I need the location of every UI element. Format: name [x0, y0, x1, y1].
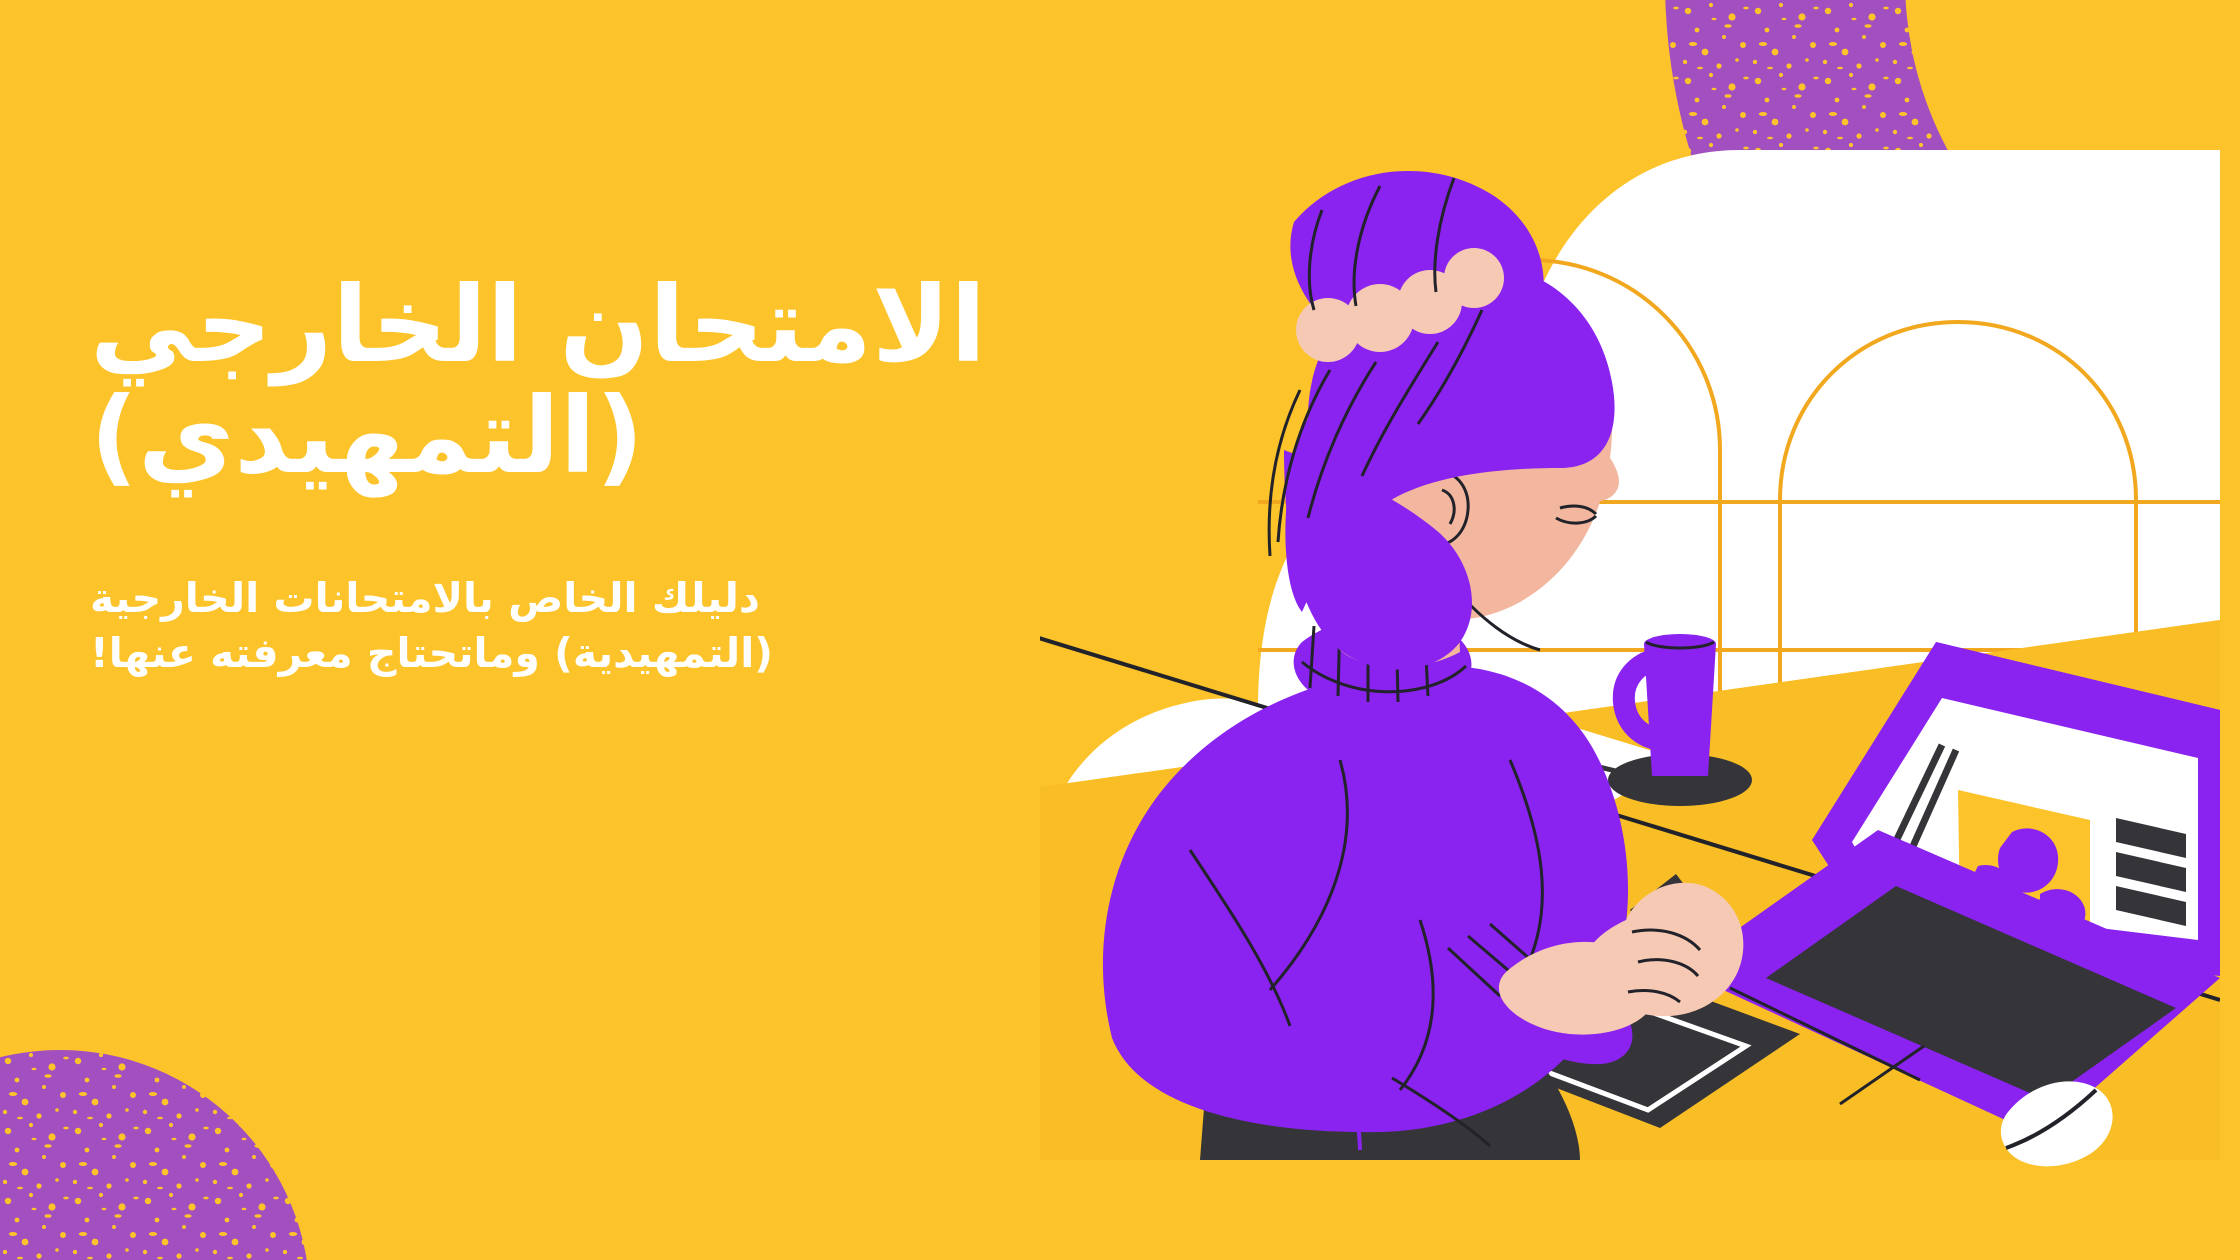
- laptop-panel: [2116, 818, 2186, 926]
- slide-subtitle: دليلك الخاص بالامتحانات الخارجية (التمهي…: [90, 571, 1010, 681]
- presentation-slide: الامتحان الخارجي (التمهيدي) دليلك الخاص …: [0, 0, 2240, 1260]
- slide-text-block: الامتحان الخارجي (التمهيدي) دليلك الخاص …: [90, 270, 1010, 680]
- page-title: الامتحان الخارجي (التمهيدي): [90, 270, 1010, 493]
- illustration-woman-designer: [1040, 150, 2220, 1260]
